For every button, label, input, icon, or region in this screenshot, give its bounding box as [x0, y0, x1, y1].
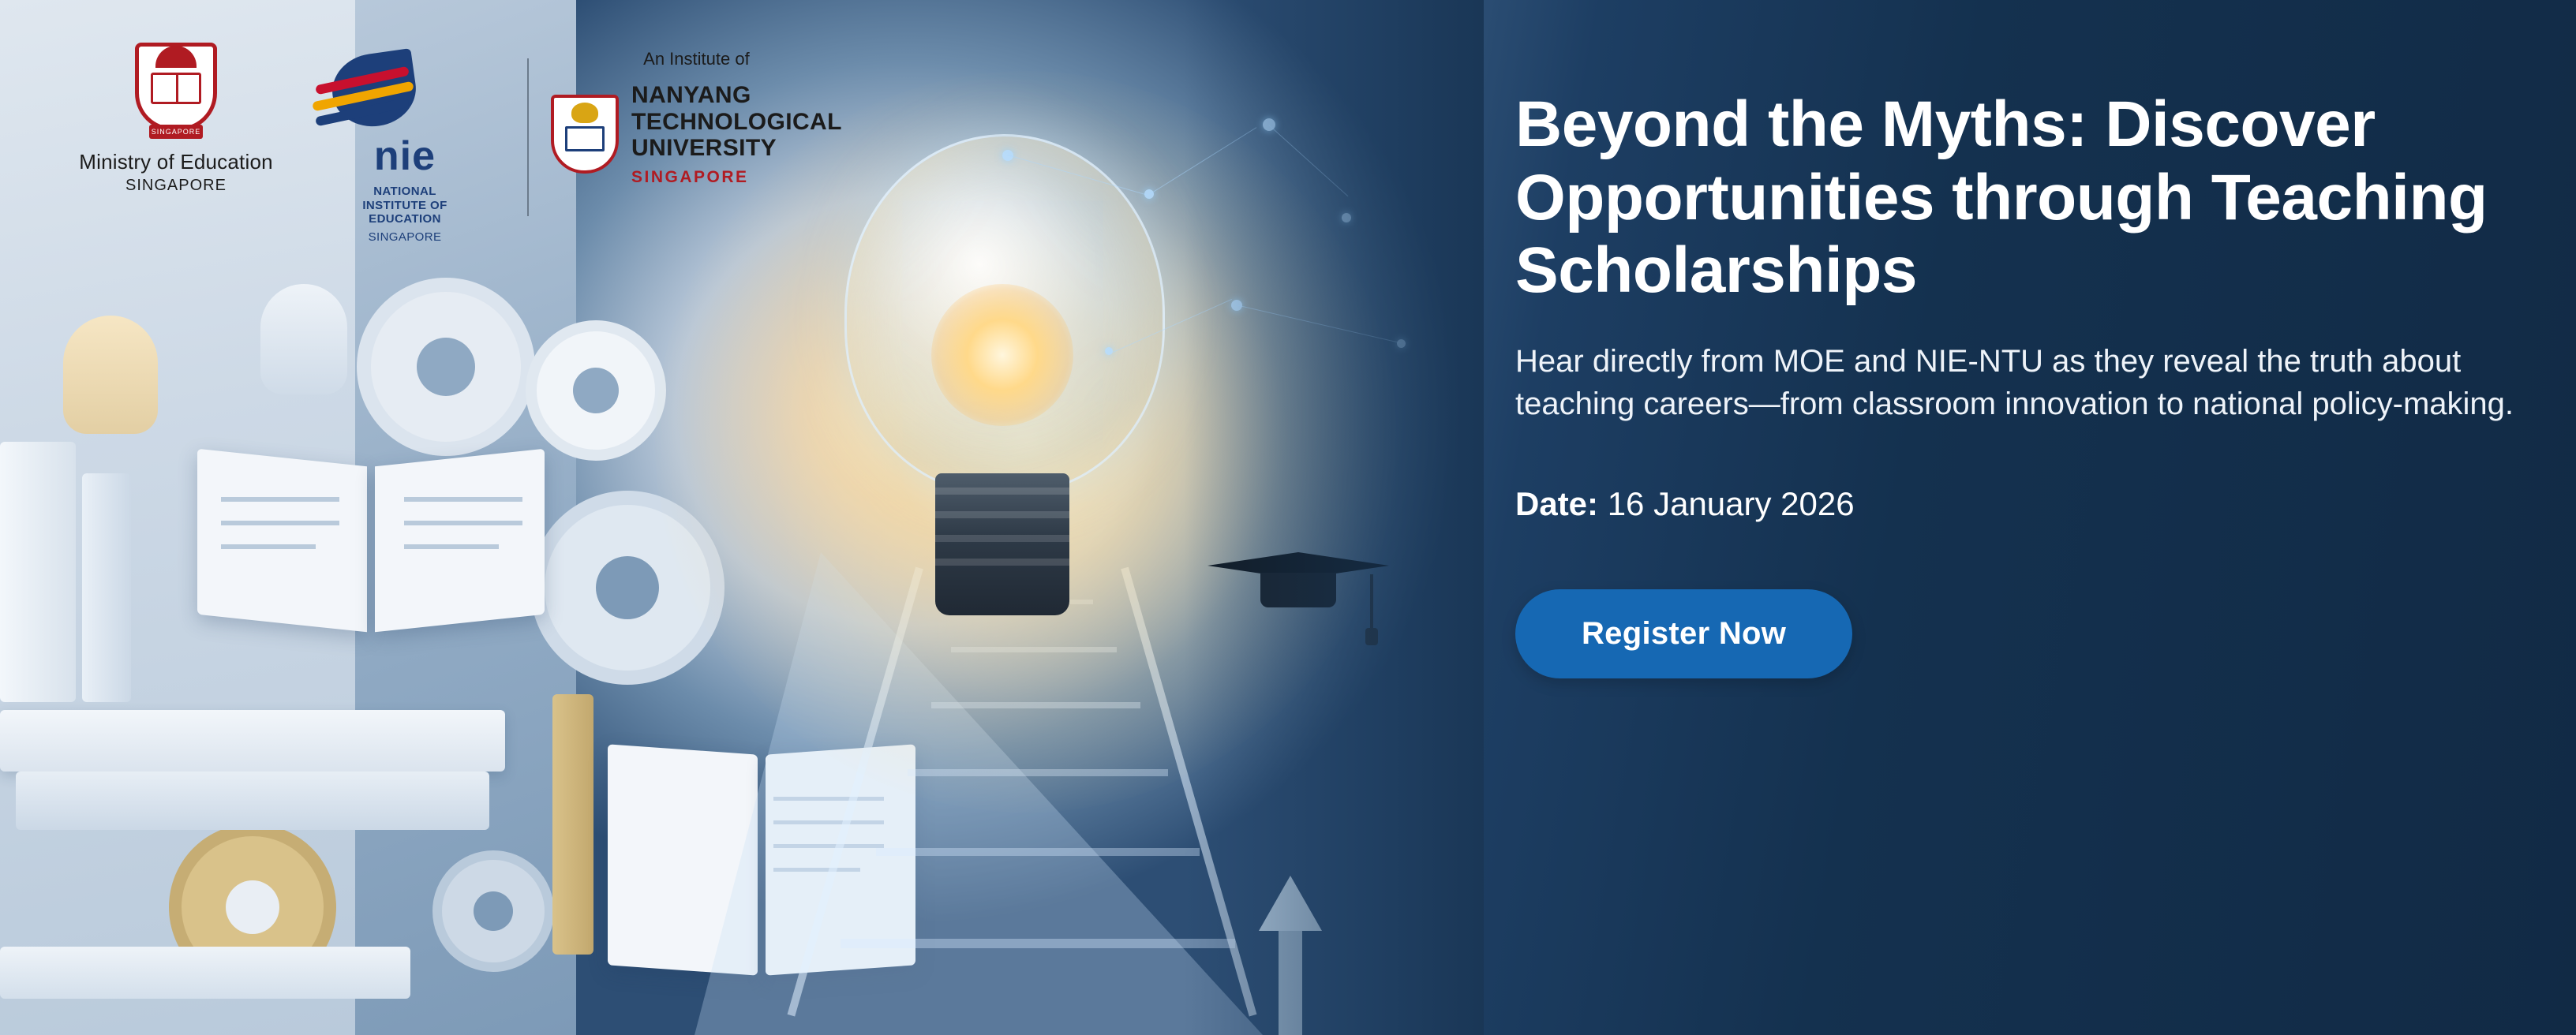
- date-value: 16 January 2026: [1608, 485, 1855, 522]
- logo-bar: SINGAPORE Ministry of Education SINGAPOR…: [62, 38, 842, 244]
- nie-subtitle: NATIONAL INSTITUTE OF EDUCATION: [290, 185, 519, 226]
- nie-logo: nie NATIONAL INSTITUTE OF EDUCATION SING…: [290, 38, 519, 244]
- gear-icon: [537, 331, 655, 450]
- bulb-socket: [935, 473, 1069, 615]
- nie-wordmark: nie: [290, 133, 519, 180]
- open-book-illustration: [197, 442, 552, 639]
- book-spine-illustration: [552, 694, 593, 955]
- ntu-affiliation-label: An Institute of: [551, 49, 842, 69]
- date-label: Date:: [1515, 485, 1598, 522]
- book-spine-illustration: [82, 473, 131, 702]
- network-node: [1105, 347, 1113, 355]
- ntu-crest-icon: [551, 95, 619, 174]
- flat-bulb-icon: [260, 284, 347, 394]
- gear-icon: [442, 860, 545, 962]
- road-tie: [841, 939, 1235, 948]
- book-stack-illustration: [16, 772, 489, 830]
- banner-content: Beyond the Myths: Discover Opportunities…: [1515, 88, 2518, 678]
- banner-subhead: Hear directly from MOE and NIE-NTU as th…: [1515, 341, 2518, 425]
- promo-banner: SINGAPORE Ministry of Education SINGAPOR…: [0, 0, 2576, 1035]
- ntu-country: SINGAPORE: [631, 168, 842, 187]
- ntu-logo: An Institute of NANYANG TECHNOLOGICAL UN…: [551, 38, 842, 187]
- road-tie: [876, 848, 1200, 856]
- book-stack-illustration: [0, 947, 410, 999]
- flat-bulb-icon: [63, 316, 158, 434]
- ntu-name: NANYANG TECHNOLOGICAL UNIVERSITY: [631, 82, 842, 162]
- gear-icon: [371, 292, 521, 442]
- nie-mark-icon: [310, 52, 500, 137]
- event-dateline: Date: 16 January 2026: [1515, 485, 2518, 523]
- logo-divider: [527, 58, 529, 216]
- register-now-button[interactable]: Register Now: [1515, 589, 1852, 678]
- moe-crest-ribbon-label: SINGAPORE: [149, 125, 203, 139]
- banner-headline: Beyond the Myths: Discover Opportunities…: [1515, 88, 2518, 308]
- book-spine-illustration: [0, 442, 76, 702]
- book-stack-illustration: [0, 710, 505, 772]
- moe-logo: SINGAPORE Ministry of Education SINGAPOR…: [62, 38, 290, 195]
- bulb-filament: [931, 284, 1073, 426]
- moe-crest-icon: SINGAPORE: [129, 38, 223, 142]
- nie-country: SINGAPORE: [290, 230, 519, 244]
- moe-logo-line1: Ministry of Education: [62, 150, 290, 174]
- illustration-fade: [1184, 0, 1484, 1035]
- moe-logo-line2: SINGAPORE: [62, 177, 290, 195]
